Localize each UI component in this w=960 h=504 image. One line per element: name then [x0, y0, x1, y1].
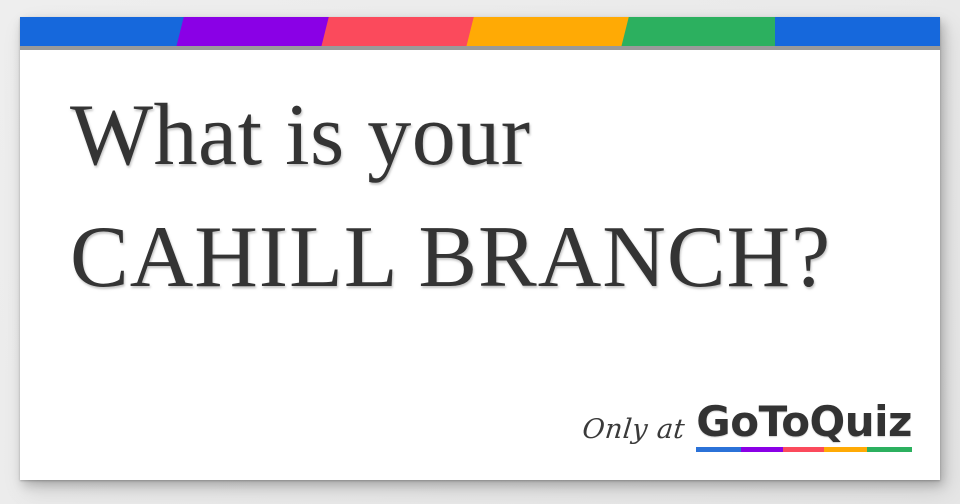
page-title-line-1: What is your	[70, 75, 910, 197]
page-title: What is your CAHILL BRANCH?	[70, 75, 910, 319]
page-background: What is your CAHILL BRANCH? Only at GoTo…	[0, 0, 960, 504]
underline-segment-blue	[696, 447, 741, 452]
brand-prefix-text: Only at	[580, 416, 686, 452]
underline-segment-orange	[824, 447, 867, 452]
topbar-segment-red	[320, 17, 480, 46]
rainbow-topbar	[20, 17, 940, 46]
topbar-segment-blue	[20, 17, 200, 46]
topbar-segment-purple	[175, 17, 335, 46]
underline-segment-red	[783, 447, 824, 452]
gotoquiz-logo[interactable]: GoToQuiz	[696, 401, 912, 452]
topbar-segment-blue-2	[775, 17, 940, 46]
gotoquiz-wordmark: GoToQuiz	[696, 401, 912, 444]
gotoquiz-underline-bar	[696, 447, 912, 452]
underline-segment-purple	[741, 447, 782, 452]
page-title-line-2: CAHILL BRANCH?	[70, 197, 910, 319]
underline-segment-green	[867, 447, 912, 452]
topbar-segment-green	[620, 17, 790, 46]
topbar-divider-rule	[20, 46, 940, 50]
topbar-segment-orange	[465, 17, 635, 46]
quiz-title-card: What is your CAHILL BRANCH? Only at GoTo…	[20, 17, 940, 480]
brand-attribution: Only at GoToQuiz	[582, 401, 912, 452]
